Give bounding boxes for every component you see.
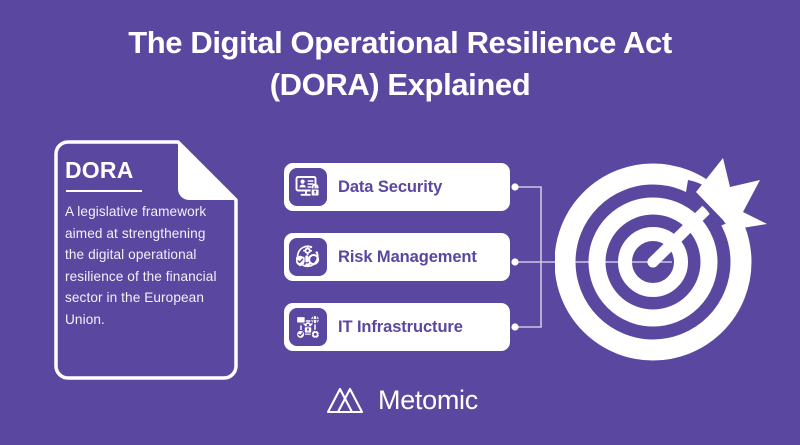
feature-label: IT Infrastructure <box>338 318 463 337</box>
metomic-mountain-logo-icon <box>326 385 364 415</box>
metomic-wordmark: Metomic <box>378 387 478 414</box>
feature-card-risk-management[interactable]: Risk Management <box>284 233 510 281</box>
dora-divider <box>66 190 142 192</box>
feature-card-it-infrastructure[interactable]: IT Infrastructure <box>284 303 510 351</box>
infographic-canvas: The Digital Operational Resilience Act (… <box>0 0 800 445</box>
network-grid-lock-icon <box>289 308 327 346</box>
shield-gear-magnifier-icon <box>289 238 327 276</box>
title-line-1: The Digital Operational Resilience Act <box>0 22 800 64</box>
page-title: The Digital Operational Resilience Act (… <box>0 22 800 106</box>
dora-description: A legislative framework aimed at strengt… <box>65 201 220 330</box>
connector-node-bottom <box>511 323 518 330</box>
feature-label: Risk Management <box>338 248 477 267</box>
title-line-2: (DORA) Explained <box>0 64 800 106</box>
feature-label: Data Security <box>338 178 442 197</box>
dora-card-content: DORA A legislative framework aimed at st… <box>46 140 238 380</box>
feature-card-data-security[interactable]: Data Security <box>284 163 510 211</box>
connector-node-middle <box>511 258 518 265</box>
monitor-user-lock-icon <box>289 168 327 206</box>
dora-definition-card: DORA A legislative framework aimed at st… <box>46 140 238 380</box>
connector-node-top <box>511 183 518 190</box>
target-with-dart-icon <box>555 140 780 370</box>
dora-heading: DORA <box>65 157 220 183</box>
metomic-logo: Metomic <box>326 380 478 420</box>
